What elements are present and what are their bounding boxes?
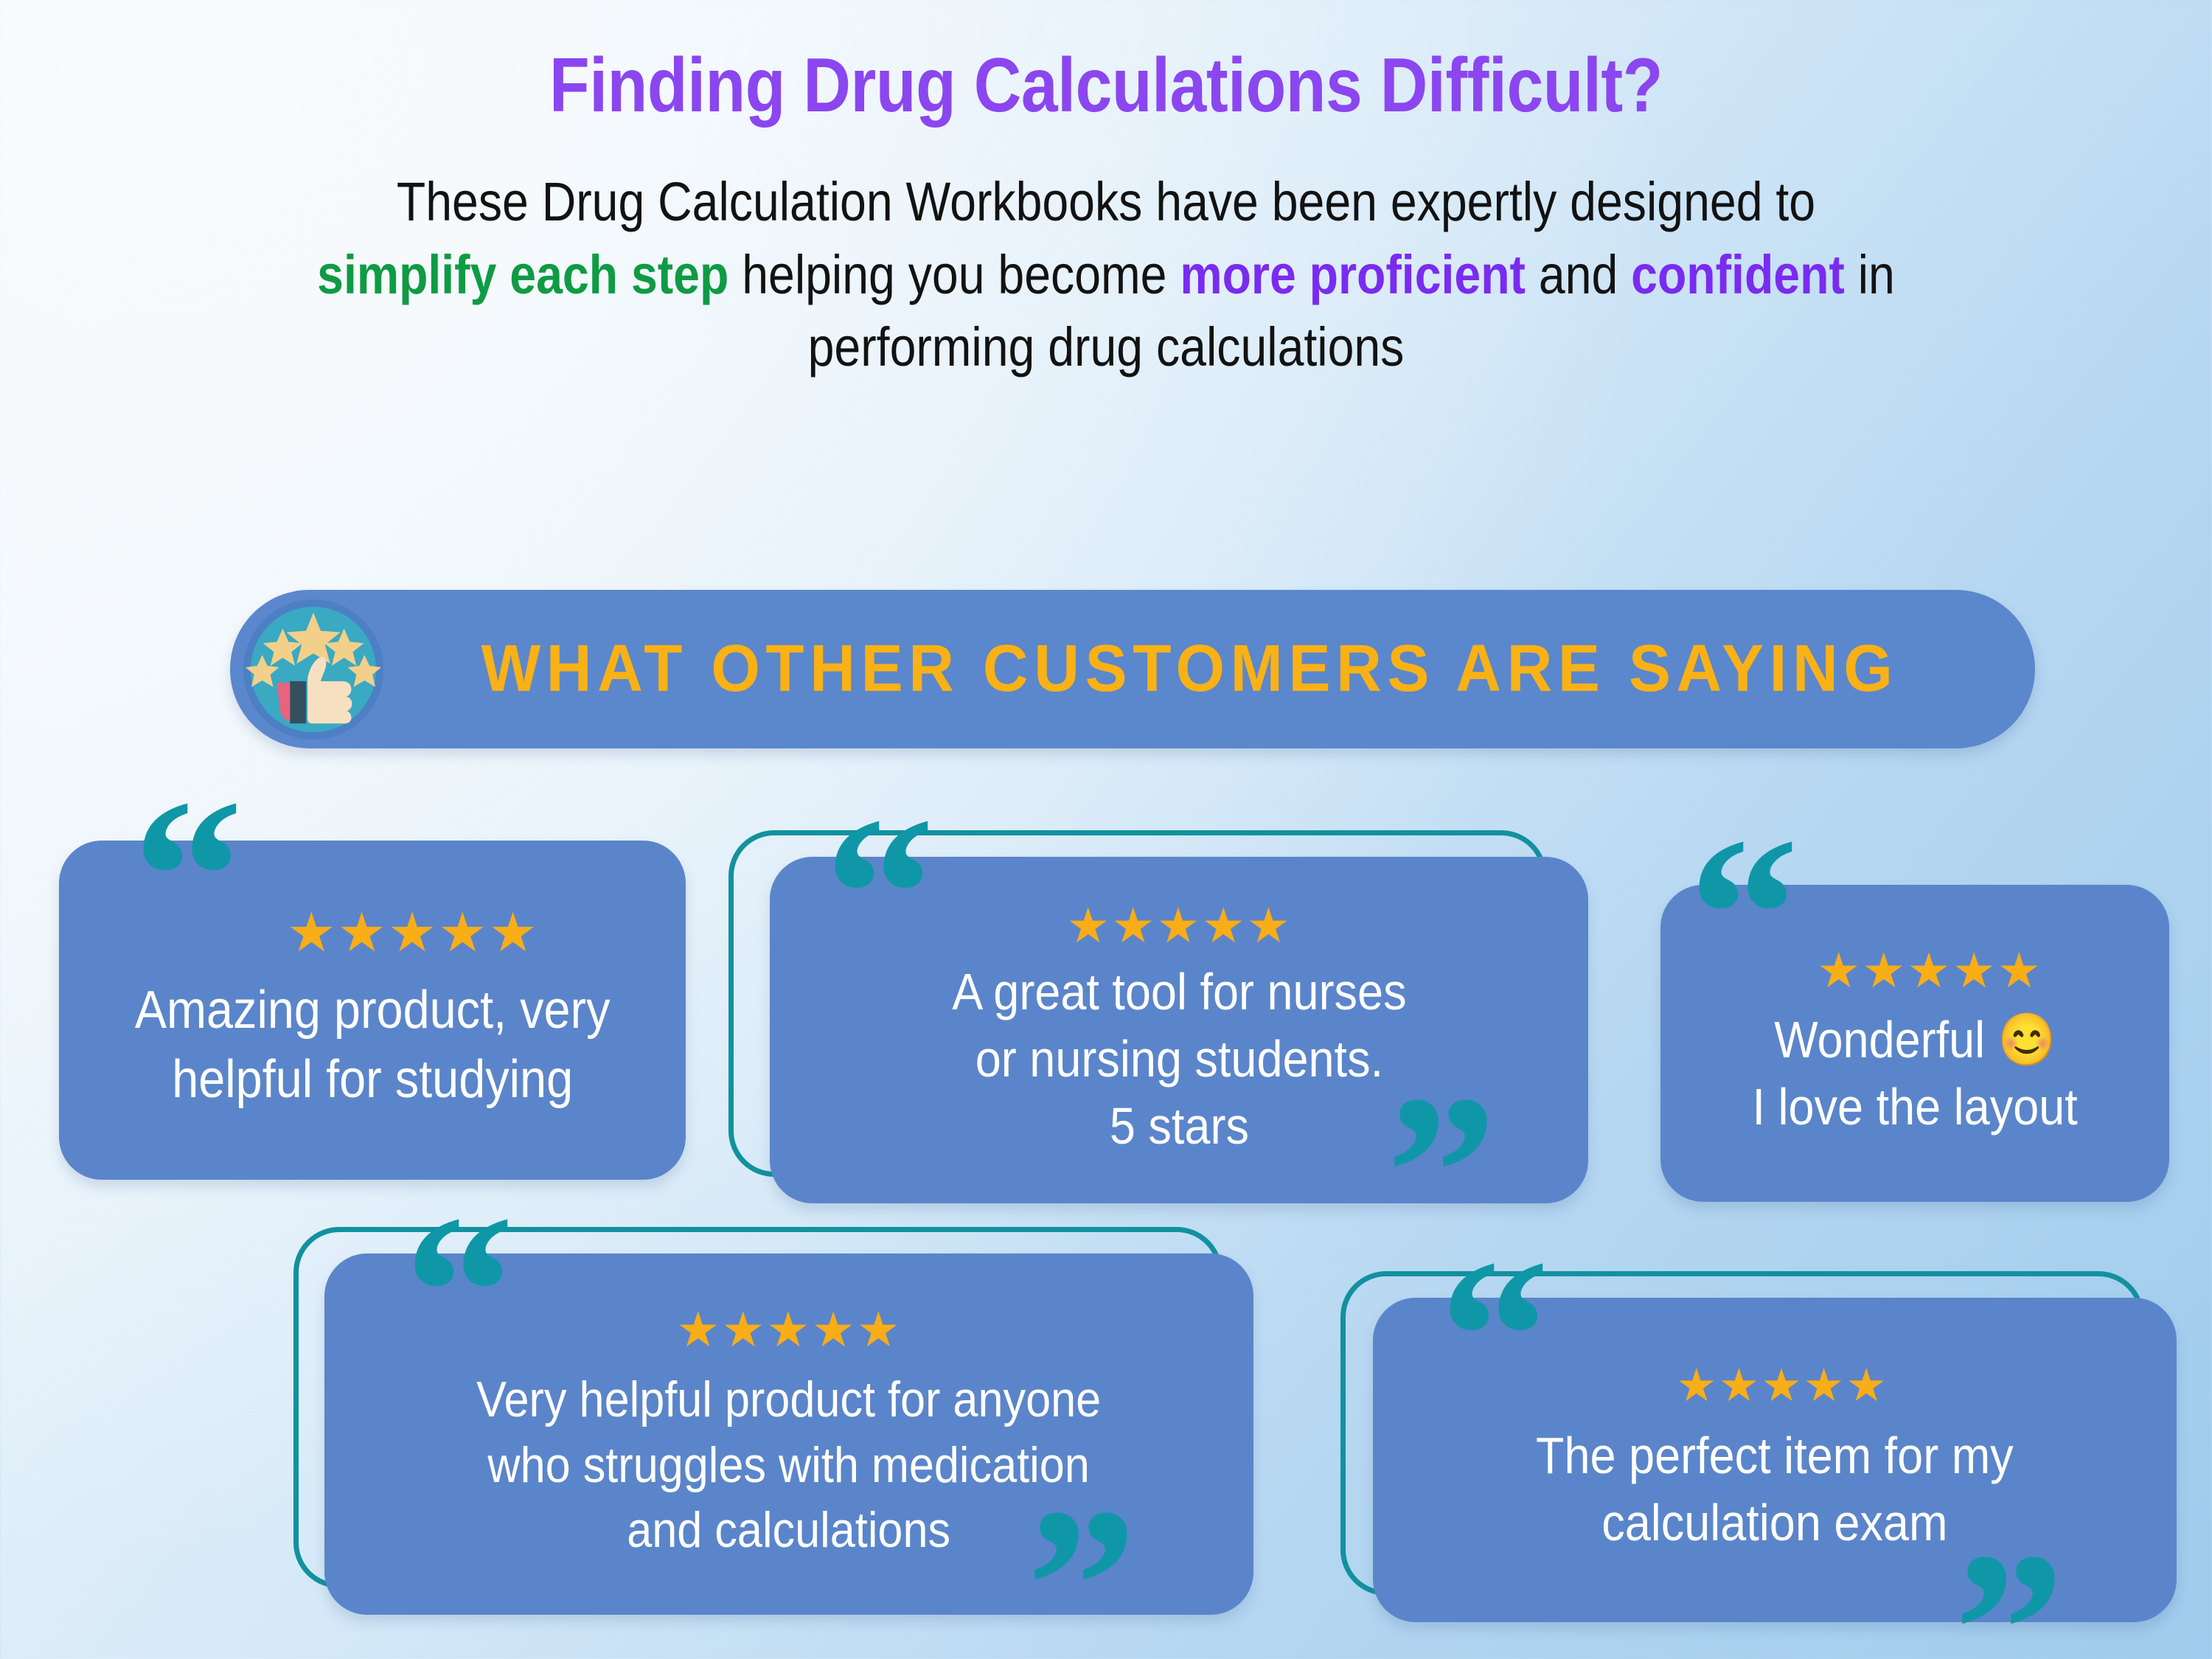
- highlight-more-proficient: more proficient: [1180, 244, 1526, 305]
- subtitle-plain-c: in: [1845, 244, 1895, 305]
- subtitle-plain-a: helping you become: [728, 244, 1180, 305]
- rating-stars: ★★★★★: [676, 1305, 902, 1354]
- testimonial-text: Wonderful 😊 I love the layout: [1752, 1006, 2077, 1141]
- subtitle-paragraph: These Drug Calculation Workbooks have be…: [144, 166, 2068, 383]
- subtitle-line-2: simplify each step helping you become mo…: [144, 239, 2068, 311]
- banner-title: WHAT OTHER CUSTOMERS ARE SAYING: [428, 631, 1994, 707]
- testimonial-text: Very helpful product for anyone who stru…: [476, 1367, 1101, 1562]
- quote-open-icon: “: [133, 765, 243, 987]
- header-section: Finding Drug Calculations Difficult? The…: [0, 0, 2212, 383]
- subtitle-plain-b: and: [1526, 244, 1631, 305]
- highlight-confident: confident: [1631, 244, 1845, 305]
- quote-close-icon: ”: [1954, 1519, 2065, 1659]
- testimonial-text: The perfect item for my calculation exam: [1536, 1422, 2014, 1557]
- rating-stars: ★★★★★: [1817, 946, 2042, 995]
- quote-open-icon: “: [1439, 1225, 1550, 1447]
- quote-close-icon: ”: [1026, 1475, 1137, 1659]
- thumbs-up-five-stars-badge-icon: [240, 597, 386, 742]
- testimonial-text: A great tool for nurses or nursing stude…: [952, 959, 1406, 1160]
- rating-stars: ★★★★★: [287, 905, 539, 960]
- highlight-simplify-each-step: simplify each step: [317, 244, 728, 305]
- quote-open-icon: “: [404, 1181, 515, 1402]
- rating-stars: ★★★★★: [1676, 1363, 1888, 1409]
- customers-saying-banner: WHAT OTHER CUSTOMERS ARE SAYING: [230, 590, 2035, 748]
- quote-open-icon: “: [824, 783, 935, 1004]
- subtitle-line-1: These Drug Calculation Workbooks have be…: [144, 166, 2068, 238]
- page-title: Finding Drug Calculations Difficult?: [155, 46, 2057, 126]
- rating-stars: ★★★★★: [1066, 901, 1292, 950]
- quote-open-icon: “: [1688, 804, 1799, 1025]
- subtitle-line-3: performing drug calculations: [144, 311, 2068, 383]
